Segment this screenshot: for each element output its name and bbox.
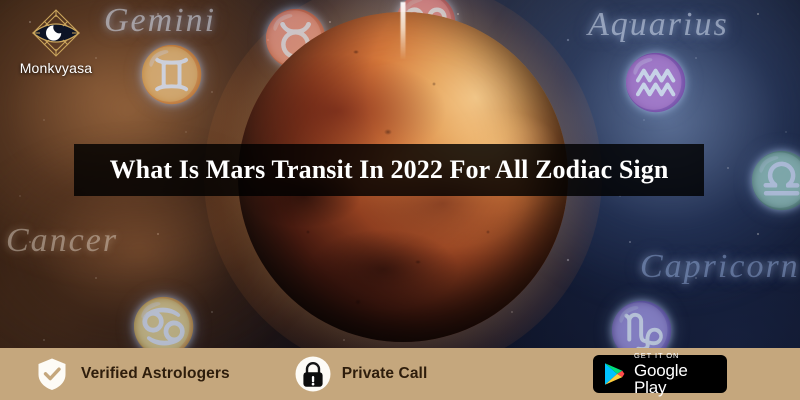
feature-label-verified-astrologers: Verified Astrologers — [81, 365, 230, 383]
feature-label-private-call: Private Call — [342, 365, 428, 383]
mars-north-flare — [401, 2, 406, 60]
footer-bar: Verified Astrologers Private Call GET I — [0, 348, 800, 400]
lock-exclamation-icon — [295, 356, 331, 392]
page-title: What Is Mars Transit In 2022 For All Zod… — [110, 155, 669, 185]
brand-logo[interactable]: Monkvyasa — [14, 8, 98, 76]
feature-private-call[interactable]: Private Call — [295, 356, 428, 392]
feature-verified-astrologers[interactable]: Verified Astrologers — [34, 356, 230, 392]
google-play-big-text: Google Play — [634, 362, 716, 396]
title-banner: What Is Mars Transit In 2022 For All Zod… — [74, 144, 704, 196]
eye-crescent-moon-emblem-icon — [27, 8, 85, 58]
google-play-triangle-icon — [604, 362, 625, 386]
brand-name: Monkvyasa — [14, 60, 98, 76]
promo-banner: Gemini Aquarius Cancer Capricorn ♊ ♉ ♈ ♒… — [0, 0, 800, 400]
google-play-badge[interactable]: GET IT ON Google Play — [593, 355, 727, 393]
shield-check-icon — [34, 356, 70, 392]
google-play-small-text: GET IT ON — [634, 352, 716, 360]
google-play-text: GET IT ON Google Play — [634, 352, 716, 396]
